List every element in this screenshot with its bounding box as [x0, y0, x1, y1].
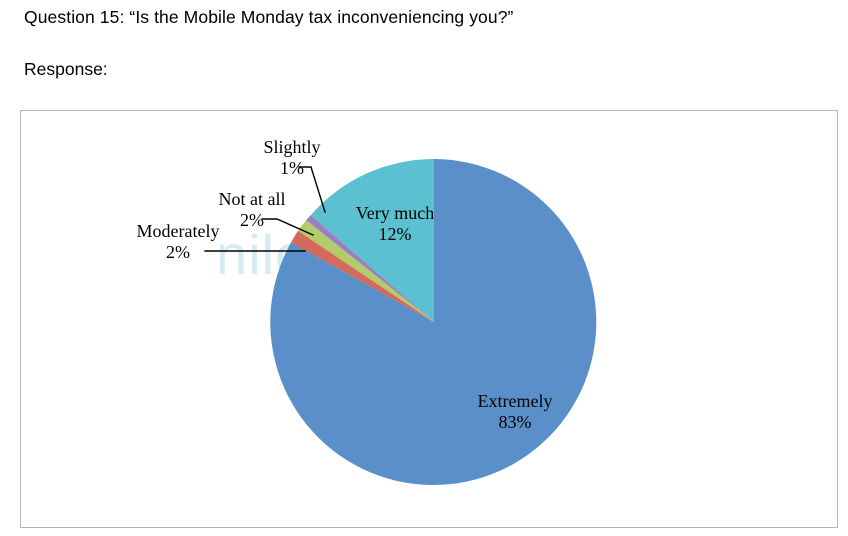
pie-label-slightly-value: 1%: [236, 158, 348, 179]
pie-label-extremely-name: Extremely: [453, 391, 577, 412]
pie-label-moderately: Moderately 2%: [109, 221, 247, 263]
pie-label-moderately-value: 2%: [109, 242, 247, 263]
pie-label-extremely: Extremely 83%: [453, 391, 577, 433]
pie-label-not-at-all-name: Not at all: [196, 189, 308, 210]
pie-chart-svg: [21, 111, 838, 528]
pie-label-extremely-value: 83%: [453, 412, 577, 433]
response-label: Response:: [24, 58, 108, 80]
pie-chart-container: nilepost.co.ug Slightly 1% Not at all 2%…: [20, 110, 838, 528]
pie-label-very-much-name: Very much: [333, 203, 457, 224]
pie-label-moderately-name: Moderately: [109, 221, 247, 242]
pie-label-slightly: Slightly 1%: [236, 137, 348, 179]
pie-label-very-much: Very much 12%: [333, 203, 457, 245]
pie-label-very-much-value: 12%: [333, 224, 457, 245]
question-heading: Question 15: “Is the Mobile Monday tax i…: [24, 6, 513, 28]
pie-label-slightly-name: Slightly: [236, 137, 348, 158]
